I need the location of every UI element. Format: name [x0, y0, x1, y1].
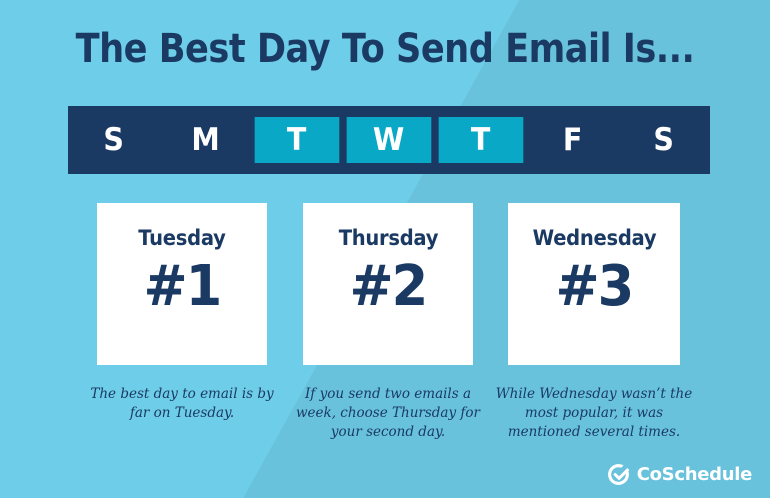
page-title: The Best Day To Send Email Is... — [46, 26, 724, 72]
card-caption: While Wednesday wasn’t the most popular,… — [494, 385, 694, 442]
day-letter: F — [562, 122, 582, 158]
day-letter: S — [654, 122, 675, 158]
day-cell-friday: F — [530, 117, 614, 163]
card-day-label: Thursday — [338, 226, 437, 250]
day-cell-thursday: T — [439, 117, 523, 163]
card-rank-label: #2 — [350, 258, 427, 317]
day-of-week-bar: S M T W T F S — [68, 106, 710, 174]
rank-card: Tuesday #1 — [97, 203, 267, 365]
card-day-label: Tuesday — [138, 226, 225, 250]
rank-card: Thursday #2 — [303, 203, 473, 365]
card-rank-label: #3 — [556, 258, 633, 317]
day-cell-wednesday: W — [347, 117, 431, 163]
day-letter: T — [287, 122, 307, 158]
day-letter: W — [373, 122, 405, 158]
day-cell-monday: M — [163, 117, 247, 163]
day-cell-tuesday: T — [255, 117, 339, 163]
card-caption: If you send two emails a week, choose Th… — [292, 385, 484, 442]
day-cell-saturday: S — [622, 117, 706, 163]
coschedule-logo[interactable]: CoSchedule — [607, 463, 752, 486]
day-letter: M — [191, 122, 220, 158]
card-day-label: Wednesday — [532, 226, 656, 250]
card-rank-label: #1 — [144, 258, 221, 317]
rank-card: Wednesday #3 — [508, 203, 680, 365]
logo-wordmark: CoSchedule — [637, 464, 752, 485]
day-cell-sunday: S — [72, 117, 156, 163]
card-caption: The best day to email is by far on Tuesd… — [86, 385, 278, 423]
day-letter: T — [471, 122, 491, 158]
infographic-canvas: The Best Day To Send Email Is... S M T W… — [0, 0, 770, 498]
check-circle-icon — [607, 463, 630, 486]
day-letter: S — [103, 122, 124, 158]
